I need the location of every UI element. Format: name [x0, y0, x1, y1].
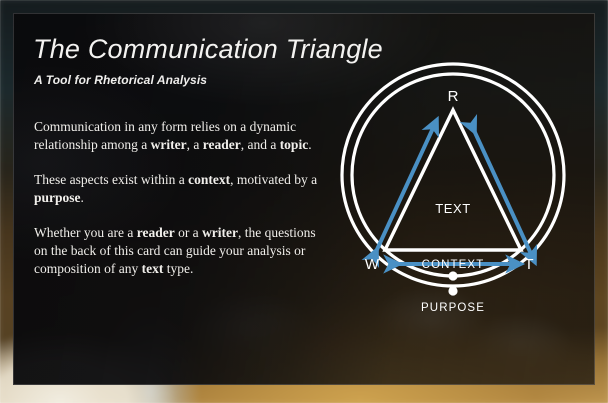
arrow-reader-topic: [472, 126, 532, 256]
card-image: The Communication Triangle A Tool for Rh…: [0, 0, 608, 403]
inner-ring-label-context: CONTEXT: [422, 259, 485, 271]
arrow-writer-reader: [374, 126, 434, 256]
purpose-ring-dot: [448, 286, 457, 295]
paragraph-3: Whether you are a reader or a writer, th…: [34, 224, 324, 278]
vertex-label-reader: R: [448, 88, 459, 105]
center-label-text: TEXT: [435, 201, 471, 216]
communication-triangle-diagram: R W T TEXT CONTEXT PURPOSE: [330, 48, 590, 358]
vertex-label-writer: W: [365, 256, 380, 273]
paragraph-1: Communication in any form relies on a dy…: [34, 118, 324, 154]
paragraph-2: These aspects exist within a context, mo…: [34, 171, 324, 207]
card-body-text: Communication in any form relies on a dy…: [34, 118, 324, 278]
page-subtitle: A Tool for Rhetorical Analysis: [34, 73, 207, 87]
context-ring-dot: [448, 271, 457, 280]
triangle-outline: [385, 110, 521, 250]
outer-ring-label-purpose: PURPOSE: [421, 302, 485, 314]
vertex-label-topic: T: [524, 256, 533, 273]
